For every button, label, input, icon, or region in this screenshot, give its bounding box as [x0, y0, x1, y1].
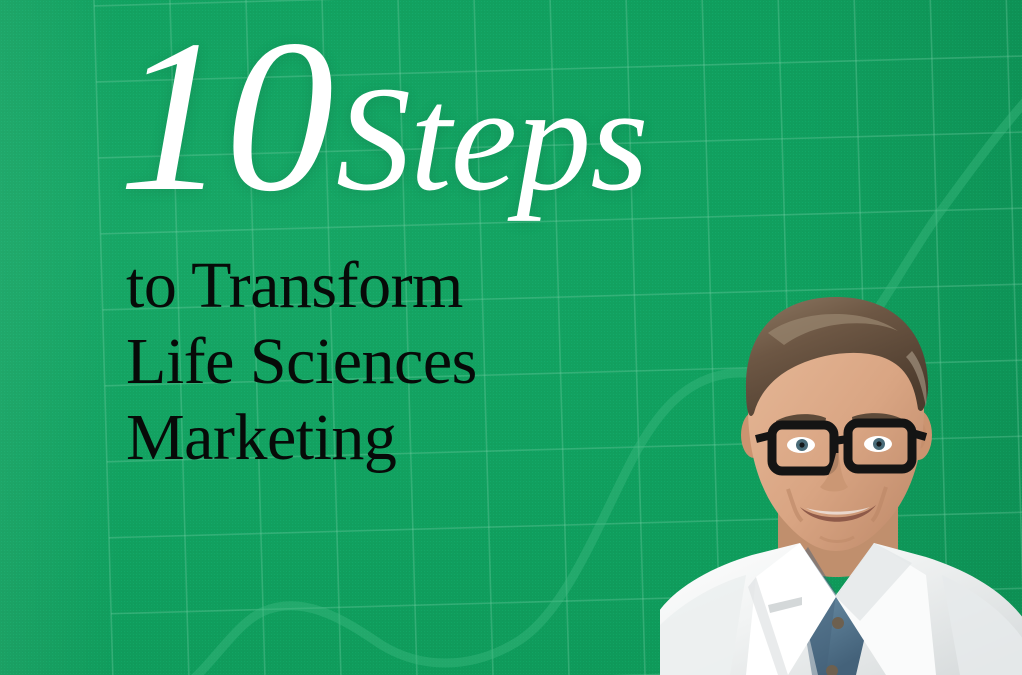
glasses-temple-right [912, 433, 926, 437]
headline-number: 10 [118, 8, 332, 226]
scientist-portrait [660, 275, 1022, 675]
subheadline-line-1: to Transform [126, 248, 477, 324]
pupil-right [876, 441, 881, 446]
glasses-bridge [834, 439, 848, 441]
subheadline-line-3: Marketing [126, 400, 477, 476]
pupil-left [799, 442, 804, 447]
poster-canvas: 10 Steps to Transform Life Sciences Mark… [0, 0, 1022, 675]
subheadline-line-2: Life Sciences [126, 324, 477, 400]
shirt-button-1 [832, 617, 844, 629]
glasses-temple-left [756, 435, 772, 439]
headline: 10 Steps [118, 8, 648, 226]
scientist-portrait-svg [660, 275, 1022, 675]
subheadline: to Transform Life Sciences Marketing [126, 248, 477, 476]
headline-word: Steps [336, 64, 648, 214]
